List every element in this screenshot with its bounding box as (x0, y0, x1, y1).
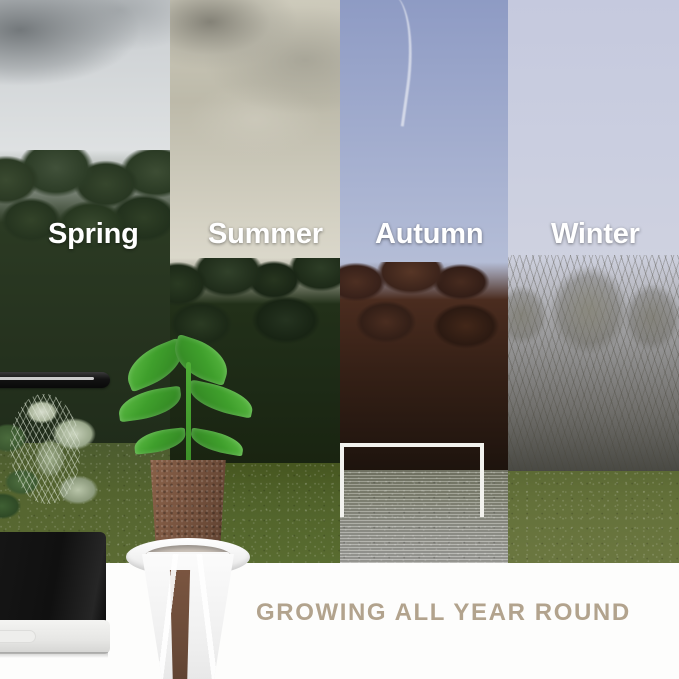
leaf-icon (189, 427, 246, 456)
dill-wisps (10, 394, 80, 504)
leaf-icon (133, 427, 187, 454)
season-label-spring: Spring (48, 218, 139, 251)
plant-stem (186, 362, 191, 466)
grass-texture (508, 471, 679, 563)
season-panel-winter: Winter (508, 0, 679, 563)
seedling-grow-pod (116, 340, 266, 679)
unit-shadow (0, 652, 108, 658)
season-panel-autumn: Autumn (340, 0, 508, 563)
caption-text: GROWING ALL YEAR ROUND (256, 599, 631, 627)
season-label-summer: Summer (208, 218, 323, 251)
season-label-autumn: Autumn (375, 218, 483, 251)
winter-grass (508, 471, 679, 563)
grow-basket-ribs (142, 554, 234, 679)
season-label-winter: Winter (551, 218, 640, 251)
winter-bare-tree-line (508, 255, 679, 480)
leaf-icon (116, 386, 183, 423)
unit-control-base (0, 620, 110, 654)
football-goalpost (340, 443, 484, 517)
unit-reservoir-body (0, 532, 106, 624)
leaf-icon (168, 334, 234, 386)
autumn-tree-line (340, 262, 508, 472)
seasons-promo-image: Spring Summer Autumn (0, 0, 679, 679)
hydroponic-garden-unit (0, 372, 114, 662)
